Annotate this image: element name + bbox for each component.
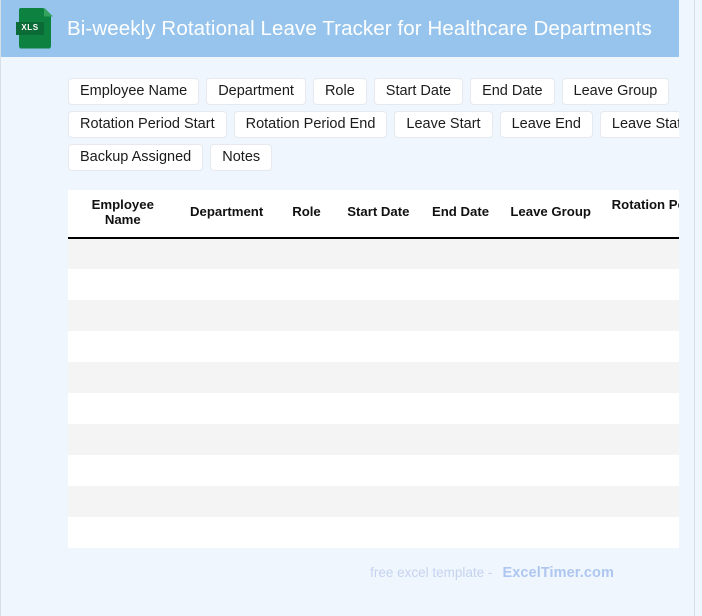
table-cell[interactable] — [502, 424, 600, 455]
table-cell[interactable] — [337, 424, 419, 455]
column-header-department[interactable]: Department — [178, 190, 276, 238]
field-chip-rotation-period-end[interactable]: Rotation Period End — [234, 111, 388, 138]
table-row[interactable] — [68, 331, 679, 362]
field-chip-row-1: Employee Name Department Role Start Date… — [68, 78, 679, 105]
table-cell[interactable] — [337, 362, 419, 393]
table-cell[interactable] — [276, 300, 338, 331]
table-cell[interactable] — [337, 238, 419, 269]
field-chip-leave-start[interactable]: Leave Start — [394, 111, 492, 138]
footer-credit: free excel template - ExcelTimer.com — [370, 565, 614, 581]
table-cell[interactable] — [502, 331, 600, 362]
table-cell[interactable] — [600, 486, 679, 517]
table-cell[interactable] — [68, 238, 178, 269]
table-row[interactable] — [68, 517, 679, 548]
table-cell[interactable] — [178, 393, 276, 424]
column-header-leave-group[interactable]: Leave Group — [502, 190, 600, 238]
field-chip-start-date[interactable]: Start Date — [374, 78, 463, 105]
data-table-header-row: Employee Name Department Role Start Date… — [68, 190, 679, 238]
xls-file-icon: XLS — [19, 8, 53, 50]
table-cell[interactable] — [178, 455, 276, 486]
table-cell[interactable] — [600, 269, 679, 300]
table-cell[interactable] — [68, 362, 178, 393]
data-table: Employee Name Department Role Start Date… — [68, 190, 679, 548]
field-chip-employee-name[interactable]: Employee Name — [68, 78, 199, 105]
field-chip-role[interactable]: Role — [313, 78, 367, 105]
table-cell[interactable] — [337, 517, 419, 548]
title-bar: XLS Bi-weekly Rotational Leave Tracker f… — [1, 0, 679, 57]
column-header-end-date[interactable]: End Date — [419, 190, 501, 238]
table-cell[interactable] — [502, 517, 600, 548]
table-cell[interactable] — [600, 424, 679, 455]
field-chip-row-2: Rotation Period Start Rotation Period En… — [68, 111, 679, 138]
table-cell[interactable] — [178, 269, 276, 300]
table-cell[interactable] — [600, 517, 679, 548]
table-cell[interactable] — [502, 362, 600, 393]
table-cell[interactable] — [502, 238, 600, 269]
table-cell[interactable] — [600, 238, 679, 269]
table-cell[interactable] — [502, 486, 600, 517]
data-table-header: Employee Name Department Role Start Date… — [68, 190, 679, 238]
field-chip-row-3: Backup Assigned Notes — [68, 144, 679, 171]
table-cell[interactable] — [502, 393, 600, 424]
table-cell[interactable] — [337, 393, 419, 424]
table-cell[interactable] — [68, 455, 178, 486]
table-cell[interactable] — [178, 486, 276, 517]
table-cell[interactable] — [502, 269, 600, 300]
table-cell[interactable] — [178, 424, 276, 455]
table-cell[interactable] — [419, 238, 501, 269]
table-cell[interactable] — [419, 362, 501, 393]
footer-brand-link[interactable]: ExcelTimer.com — [502, 565, 614, 581]
field-chip-department[interactable]: Department — [206, 78, 306, 105]
xls-file-icon-fold — [44, 8, 53, 17]
table-row[interactable] — [68, 269, 679, 300]
table-row[interactable] — [68, 300, 679, 331]
table-cell[interactable] — [600, 362, 679, 393]
footer-lead-text: free excel template - — [370, 565, 492, 580]
table-cell[interactable] — [419, 455, 501, 486]
table-cell[interactable] — [276, 331, 338, 362]
table-cell[interactable] — [337, 300, 419, 331]
table-cell[interactable] — [600, 393, 679, 424]
table-cell[interactable] — [419, 269, 501, 300]
table-row[interactable] — [68, 393, 679, 424]
page-title: Bi-weekly Rotational Leave Tracker for H… — [67, 17, 652, 41]
table-cell[interactable] — [276, 517, 338, 548]
table-cell[interactable] — [502, 300, 600, 331]
page-frame: XLS Bi-weekly Rotational Leave Tracker f… — [0, 0, 695, 616]
table-cell[interactable] — [68, 424, 178, 455]
table-cell[interactable] — [68, 393, 178, 424]
data-table-container: Employee Name Department Role Start Date… — [68, 190, 679, 548]
column-header-start-date[interactable]: Start Date — [337, 190, 419, 238]
table-cell[interactable] — [178, 238, 276, 269]
field-chip-group: Employee Name Department Role Start Date… — [68, 78, 679, 177]
table-cell[interactable] — [276, 269, 338, 300]
table-cell[interactable] — [419, 331, 501, 362]
table-cell[interactable] — [276, 455, 338, 486]
table-cell[interactable] — [178, 331, 276, 362]
table-row[interactable] — [68, 486, 679, 517]
table-cell[interactable] — [68, 269, 178, 300]
table-cell[interactable] — [419, 300, 501, 331]
column-header-employee-name[interactable]: Employee Name — [68, 190, 178, 238]
table-row[interactable] — [68, 238, 679, 269]
column-header-rotation-period-start[interactable]: Rotation Period Start — [600, 190, 679, 238]
table-cell[interactable] — [276, 424, 338, 455]
content-clip: XLS Bi-weekly Rotational Leave Tracker f… — [1, 0, 679, 616]
field-chip-leave-status[interactable]: Leave Status — [600, 111, 679, 138]
table-cell[interactable] — [178, 300, 276, 331]
table-cell[interactable] — [600, 300, 679, 331]
table-cell[interactable] — [68, 486, 178, 517]
table-row[interactable] — [68, 424, 679, 455]
field-chip-end-date[interactable]: End Date — [470, 78, 554, 105]
table-cell[interactable] — [276, 362, 338, 393]
field-chip-leave-group[interactable]: Leave Group — [562, 78, 670, 105]
field-chip-notes[interactable]: Notes — [210, 144, 272, 171]
xls-file-icon-label: XLS — [16, 22, 44, 35]
table-cell[interactable] — [502, 455, 600, 486]
table-cell[interactable] — [276, 393, 338, 424]
table-cell[interactable] — [68, 300, 178, 331]
table-row[interactable] — [68, 362, 679, 393]
table-cell[interactable] — [600, 331, 679, 362]
table-cell[interactable] — [178, 362, 276, 393]
table-cell[interactable] — [178, 517, 276, 548]
field-chip-rotation-period-start[interactable]: Rotation Period Start — [68, 111, 227, 138]
table-cell[interactable] — [419, 517, 501, 548]
table-cell[interactable] — [600, 455, 679, 486]
table-cell[interactable] — [68, 517, 178, 548]
data-table-body — [68, 238, 679, 548]
field-chip-leave-end[interactable]: Leave End — [500, 111, 593, 138]
table-cell[interactable] — [337, 486, 419, 517]
table-cell[interactable] — [337, 331, 419, 362]
table-cell[interactable] — [419, 424, 501, 455]
column-header-role[interactable]: Role — [276, 190, 338, 238]
table-cell[interactable] — [419, 486, 501, 517]
table-cell[interactable] — [68, 331, 178, 362]
table-cell[interactable] — [337, 455, 419, 486]
table-cell[interactable] — [276, 238, 338, 269]
table-row[interactable] — [68, 455, 679, 486]
table-cell[interactable] — [276, 486, 338, 517]
table-cell[interactable] — [419, 393, 501, 424]
table-cell[interactable] — [337, 269, 419, 300]
field-chip-backup-assigned[interactable]: Backup Assigned — [68, 144, 203, 171]
